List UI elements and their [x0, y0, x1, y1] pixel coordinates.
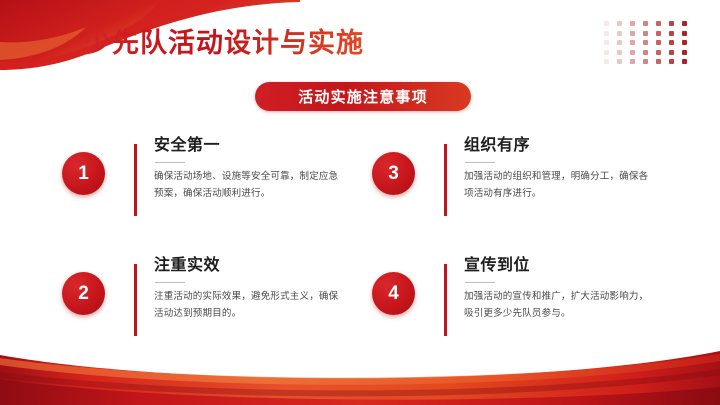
dot: [617, 59, 622, 64]
point-description: 确保活动场地、设施等安全可靠，制定应急预案，确保活动顺利进行。: [154, 169, 340, 202]
dot: [604, 50, 609, 55]
point-number: 3: [388, 164, 399, 183]
point-accent-bar: [134, 144, 137, 216]
point-body: 组织有序 加强活动的组织和管理，明确分工，确保各项活动有序进行。: [464, 132, 650, 202]
point-number: 2: [78, 284, 89, 303]
dot: [656, 21, 661, 26]
dot: [682, 21, 687, 26]
point-description: 注重活动的实际效果，避免形式主义，确保活动达到预期目的。: [154, 289, 340, 322]
point-body: 安全第一 确保活动场地、设施等安全可靠，制定应急预案，确保活动顺利进行。: [154, 132, 340, 202]
dot: [656, 31, 661, 36]
dot: [669, 21, 674, 26]
dot: [669, 59, 674, 64]
dot: [643, 59, 648, 64]
dot: [617, 50, 622, 55]
point-divider: [155, 282, 185, 283]
point-number-badge: 4: [372, 272, 415, 315]
point-body: 宣传到位 加强活动的宣传和推广，扩大活动影响力，吸引更多少先队员参与。: [464, 252, 650, 322]
dot: [643, 21, 648, 26]
point-heading: 宣传到位: [464, 256, 650, 275]
point-divider: [465, 162, 495, 163]
point-item: 4 宣传到位 加强活动的宣传和推广，扩大活动影响力，吸引更多少先队员参与。: [372, 252, 682, 372]
dot: [630, 50, 635, 55]
dot: [630, 59, 635, 64]
dot: [656, 59, 661, 64]
point-number-badge: 1: [62, 152, 105, 195]
point-number-badge: 2: [62, 272, 105, 315]
section-banner-label: 活动实施注意事项: [298, 86, 428, 107]
dot: [656, 40, 661, 45]
point-item: 3 组织有序 加强活动的组织和管理，明确分工，确保各项活动有序进行。: [372, 132, 682, 252]
dot: [604, 21, 609, 26]
dot: [669, 31, 674, 36]
dot: [682, 31, 687, 36]
dot: [604, 40, 609, 45]
points-grid: 1 安全第一 确保活动场地、设施等安全可靠，制定应急预案，确保活动顺利进行。 3…: [0, 132, 720, 372]
dot: [604, 59, 609, 64]
dot: [630, 21, 635, 26]
point-accent-bar: [444, 144, 447, 216]
dot: [604, 31, 609, 36]
point-heading: 安全第一: [154, 136, 340, 155]
dot: [682, 59, 687, 64]
dot: [630, 40, 635, 45]
dot: [630, 31, 635, 36]
dot: [669, 40, 674, 45]
page-title: 少先队活动设计与实施: [84, 21, 364, 60]
point-number-badge: 3: [372, 152, 415, 195]
dot: [656, 50, 661, 55]
point-accent-bar: [134, 264, 137, 336]
point-description: 加强活动的宣传和推广，扩大活动影响力，吸引更多少先队员参与。: [464, 289, 650, 322]
dot: [643, 50, 648, 55]
point-accent-bar: [444, 264, 447, 336]
point-number: 4: [388, 284, 399, 303]
dot: [617, 40, 622, 45]
point-divider: [155, 162, 185, 163]
point-item: 1 安全第一 确保活动场地、设施等安全可靠，制定应急预案，确保活动顺利进行。: [62, 132, 372, 252]
dot: [669, 50, 674, 55]
dot: [682, 50, 687, 55]
point-heading: 组织有序: [464, 136, 650, 155]
point-body: 注重实效 注重活动的实际效果，避免形式主义，确保活动达到预期目的。: [154, 252, 340, 322]
point-heading: 注重实效: [154, 256, 340, 275]
dot: [682, 40, 687, 45]
point-item: 2 注重实效 注重活动的实际效果，避免形式主义，确保活动达到预期目的。: [62, 252, 372, 372]
dot: [617, 21, 622, 26]
dot: [643, 40, 648, 45]
point-divider: [465, 282, 495, 283]
point-description: 加强活动的组织和管理，明确分工，确保各项活动有序进行。: [464, 169, 650, 202]
slide-canvas: 少先队活动设计与实施 活动实施注意事项 1 安全第一 确保活动场地、设施等安全可…: [0, 0, 720, 405]
section-banner: 活动实施注意事项: [255, 82, 471, 111]
dot: [643, 31, 648, 36]
point-number: 1: [78, 164, 89, 183]
dot-grid-top-right-decoration: [604, 21, 695, 69]
dot: [617, 31, 622, 36]
